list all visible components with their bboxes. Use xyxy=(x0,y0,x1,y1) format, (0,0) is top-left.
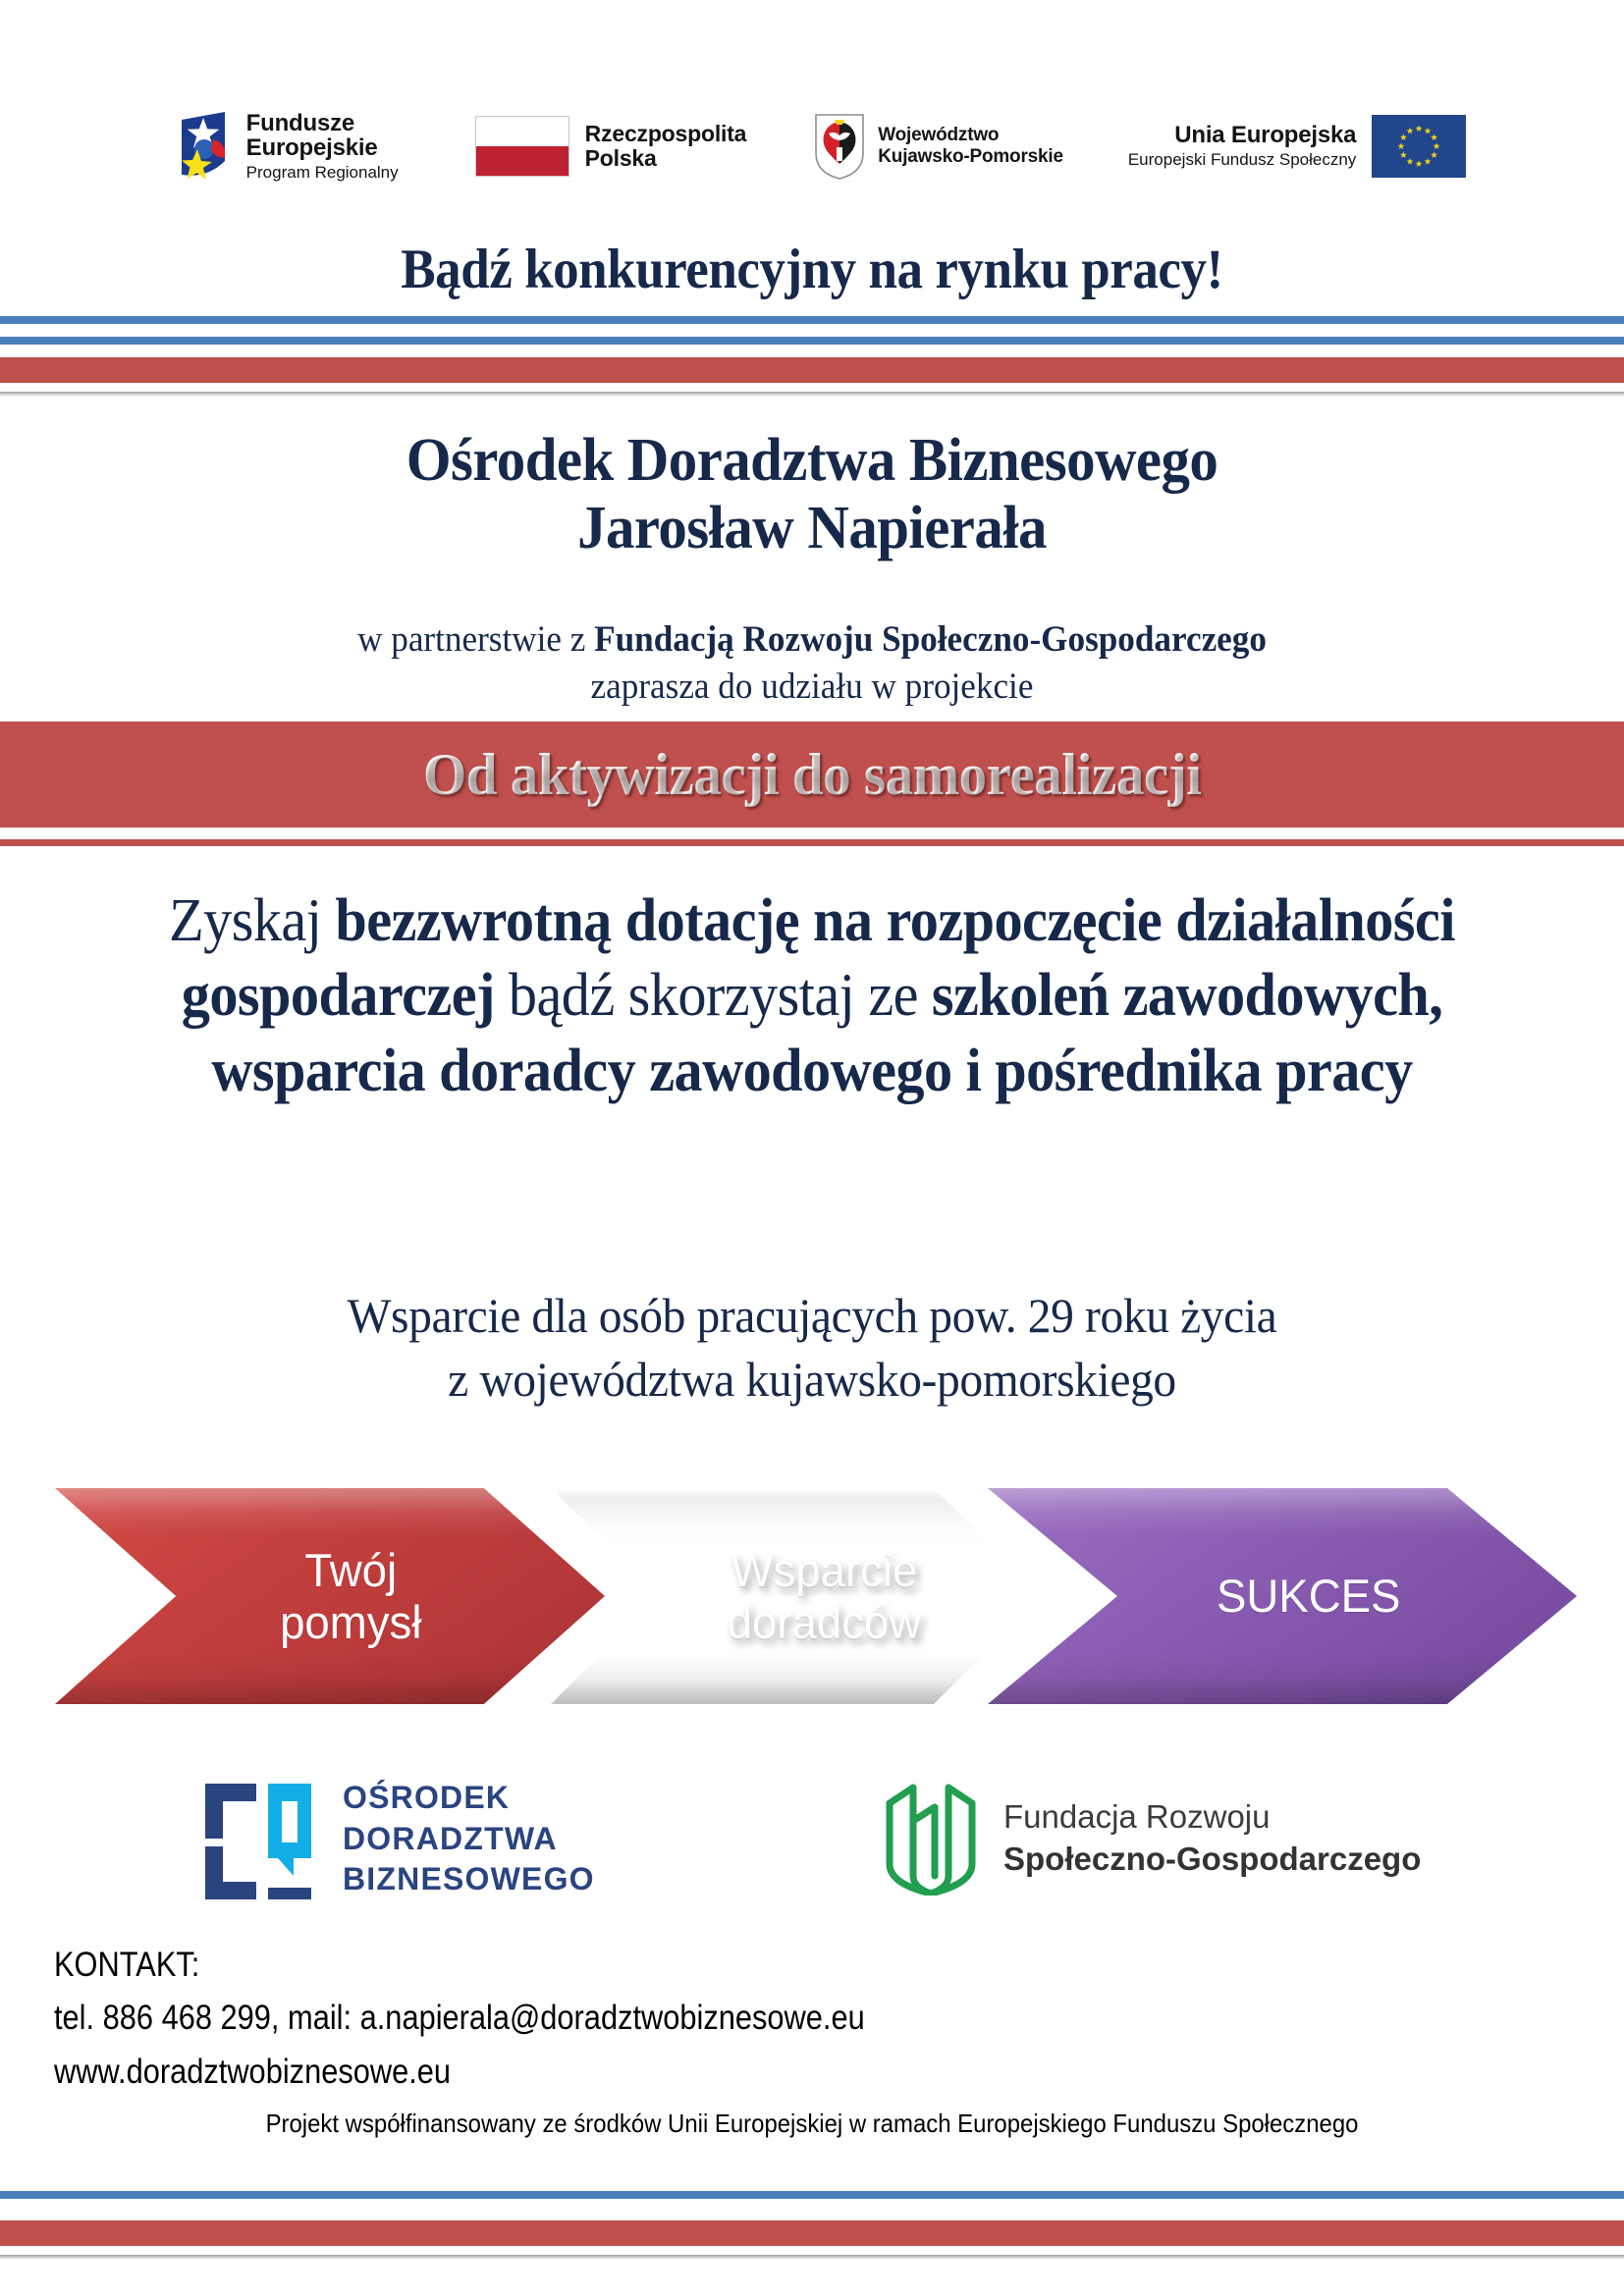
project-title-banner: Od aktywizacji do samorealizacji xyxy=(0,721,1624,828)
step1-line2: pomysł xyxy=(280,1596,421,1648)
organizer-title: Ośrodek Doradztwa Biznesowego Jarosław N… xyxy=(40,427,1583,563)
step1-line1: Twój xyxy=(280,1544,421,1596)
eligibility-line1: Wsparcie dla osób pracujących pow. 29 ro… xyxy=(89,1284,1536,1348)
polish-flag xyxy=(475,116,569,177)
divider-gap-3 xyxy=(0,383,1624,392)
divider-gap-1 xyxy=(0,324,1624,337)
partner-logos-row: OŚRODEK DORADZTWA BIZNESOWEGO Fundacja R… xyxy=(0,1772,1624,1919)
poster-headline: Bądź konkurencyjny na rynku pracy! xyxy=(57,238,1567,301)
kujawsko-pomorskie-crest xyxy=(813,112,866,181)
divider-blue-line-1 xyxy=(0,316,1624,324)
contact-phone-mail[interactable]: tel. 886 468 299, mail: a.napierala@dora… xyxy=(54,1992,865,2045)
divider-red-band xyxy=(0,357,1624,383)
fe-line2: Europejskie xyxy=(246,136,399,161)
offer-description: Zyskaj bezzwrotną dotację na rozpoczęcie… xyxy=(97,883,1528,1108)
fe-line1: Fundusze xyxy=(246,112,399,136)
bottom-blue-line xyxy=(0,2191,1624,2199)
ue-line2: Europejski Fundusz Społeczny xyxy=(1128,151,1356,170)
organizer-name-line2: Jarosław Napierała xyxy=(40,495,1583,562)
process-step-3: SUKCES xyxy=(988,1488,1577,1704)
wk-line2: Kujawsko-Pomorskie xyxy=(878,146,1063,168)
contact-website[interactable]: www.doradztwobiznesowe.eu xyxy=(54,2046,865,2099)
offer-part2: bądź skorzystaj ze xyxy=(495,962,932,1029)
contact-label: KONTAKT: xyxy=(54,1939,865,1992)
eligibility-line2: z województwa kujawsko-pomorskiego xyxy=(89,1348,1536,1412)
banner-under-white-gap xyxy=(0,828,1624,839)
frsg-green-shield-icon xyxy=(884,1782,978,1896)
ue-line1: Unia Europejska xyxy=(1128,123,1356,148)
odb-logo: OŚRODEK DORADZTWA BIZNESOWEGO xyxy=(201,1778,595,1900)
partnership-statement: w partnerstwie z Fundacją Rozwoju Społec… xyxy=(40,616,1583,711)
frsg-logo: Fundacja Rozwoju Społeczno-Gospodarczego xyxy=(884,1782,1421,1896)
divider-blue-line-2 xyxy=(0,337,1624,345)
eu-funding-logo-bar: Fundusze Europejskie Program Regionalny … xyxy=(0,84,1624,208)
wk-line1: Województwo xyxy=(878,125,1063,146)
process-chevron-diagram: Twój pomysł Wsparcie doradców SUKCES xyxy=(55,1488,1577,1704)
frsg-logo-text: Fundacja Rozwoju Społeczno-Gospodarczego xyxy=(1003,1796,1421,1881)
wojewodztwo-text: Województwo Kujawsko-Pomorskie xyxy=(878,125,1063,167)
fundusze-europejskie-logo: Fundusze Europejskie Program Regionalny xyxy=(178,110,399,183)
divider-gap-2 xyxy=(0,345,1624,357)
odb-line2: DORADZTWA xyxy=(343,1819,595,1860)
top-divider xyxy=(0,316,1624,397)
eligibility-description: Wsparcie dla osób pracujących pow. 29 ro… xyxy=(89,1284,1536,1412)
project-title: Od aktywizacji do samorealizacji xyxy=(423,741,1202,809)
invite-line: zaprasza do udziału w projekcie xyxy=(40,664,1583,711)
bottom-shadow xyxy=(0,2255,1624,2260)
step3-line1: SUKCES xyxy=(1217,1570,1400,1622)
wojewodztwo-kujawsko-pomorskie-logo: Województwo Kujawsko-Pomorskie xyxy=(813,112,1063,181)
process-step-3-label: SUKCES xyxy=(1217,1570,1400,1622)
fundusze-europejskie-text: Fundusze Europejskie Program Regionalny xyxy=(246,112,399,182)
rzeczpospolita-text: Rzeczpospolita Polska xyxy=(585,122,747,171)
eu-flag xyxy=(1372,115,1466,178)
bottom-divider xyxy=(0,2191,1624,2260)
bottom-gap-2 xyxy=(0,2212,1624,2220)
partner-with-line: w partnerstwie z Fundacją Rozwoju Społec… xyxy=(40,616,1583,664)
partner-name: Fundacją Rozwoju Społeczno-Gospodarczego xyxy=(594,619,1267,660)
rp-line2: Polska xyxy=(585,146,747,171)
process-step-2: Wsparcie doradców xyxy=(551,1488,1042,1704)
bottom-gap-1 xyxy=(0,2199,1624,2212)
unia-europejska-logo: Unia Europejska Europejski Fundusz Społe… xyxy=(1128,115,1466,178)
unia-europejska-text: Unia Europejska Europejski Fundusz Społe… xyxy=(1128,123,1356,170)
odb-line3: BIZNESOWEGO xyxy=(343,1859,595,1900)
flag-white-stripe xyxy=(476,117,568,146)
partner-prefix: w partnerstwie z xyxy=(357,619,594,660)
fe-line3: Program Regionalny xyxy=(246,164,399,182)
flag-red-stripe xyxy=(476,146,568,176)
bottom-gap-3 xyxy=(0,2246,1624,2255)
odb-bracket-speech-bubble-icon xyxy=(201,1778,315,1899)
organizer-name-line1: Ośrodek Doradztwa Biznesowego xyxy=(40,427,1583,495)
frsg-line2: Społeczno-Gospodarczego xyxy=(1003,1839,1421,1881)
rp-line1: Rzeczpospolita xyxy=(585,122,747,146)
step2-line2: doradców xyxy=(728,1596,922,1648)
frsg-line1: Fundacja Rozwoju xyxy=(1003,1796,1421,1839)
banner-under-red-line xyxy=(0,839,1624,846)
odb-line1: OŚRODEK xyxy=(343,1778,595,1819)
process-step-1-label: Twój pomysł xyxy=(280,1544,421,1648)
offer-part1: Zyskaj xyxy=(169,887,335,954)
step2-line1: Wsparcie xyxy=(728,1544,922,1596)
process-step-1: Twój pomysł xyxy=(55,1488,605,1704)
process-step-2-label: Wsparcie doradców xyxy=(728,1544,922,1648)
eu-cofinancing-note: Projekt współfinansowany ze środków Unii… xyxy=(65,2109,1559,2139)
bottom-red-band xyxy=(0,2220,1624,2246)
odb-logo-text: OŚRODEK DORADZTWA BIZNESOWEGO xyxy=(343,1778,595,1900)
divider-shadow xyxy=(0,392,1624,397)
fundusze-europejskie-star-mark xyxy=(178,110,233,183)
rzeczpospolita-polska-logo: Rzeczpospolita Polska xyxy=(475,116,747,177)
contact-block: KONTAKT: tel. 886 468 299, mail: a.napie… xyxy=(54,1939,865,2099)
